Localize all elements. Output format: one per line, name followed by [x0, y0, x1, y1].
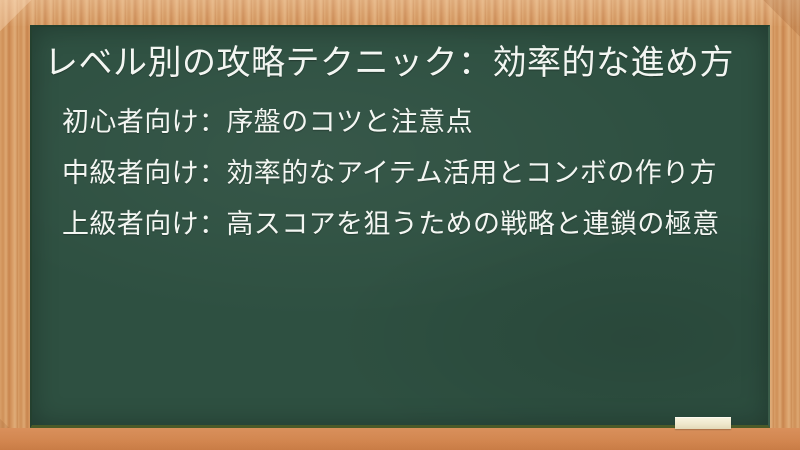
slide-title: レベル別の攻略テクニック：効率的な進め方: [38, 41, 746, 86]
slide-point-list: 初心者向け：序盤のコツと注意点 中級者向け：効率的なアイテム活用とコンボの作り方…: [38, 104, 746, 244]
chalkboard-content: レベル別の攻略テクニック：効率的な進め方 初心者向け：序盤のコツと注意点 中級者…: [32, 27, 768, 425]
list-item: 中級者向け：効率的なアイテム活用とコンボの作り方: [62, 155, 740, 192]
list-item: 上級者向け：高スコアを狙うための戦略と連鎖の極意: [62, 206, 740, 243]
list-item: 初心者向け：序盤のコツと注意点: [62, 104, 740, 141]
wood-frame-top-highlight: [0, 0, 800, 26]
chalk-eraser-icon: [675, 417, 731, 429]
wood-frame-bottom-ledge: [0, 428, 800, 450]
chalkboard-slide: レベル別の攻略テクニック：効率的な進め方 初心者向け：序盤のコツと注意点 中級者…: [0, 0, 800, 450]
chalkboard-surface: レベル別の攻略テクニック：効率的な進め方 初心者向け：序盤のコツと注意点 中級者…: [30, 25, 770, 428]
